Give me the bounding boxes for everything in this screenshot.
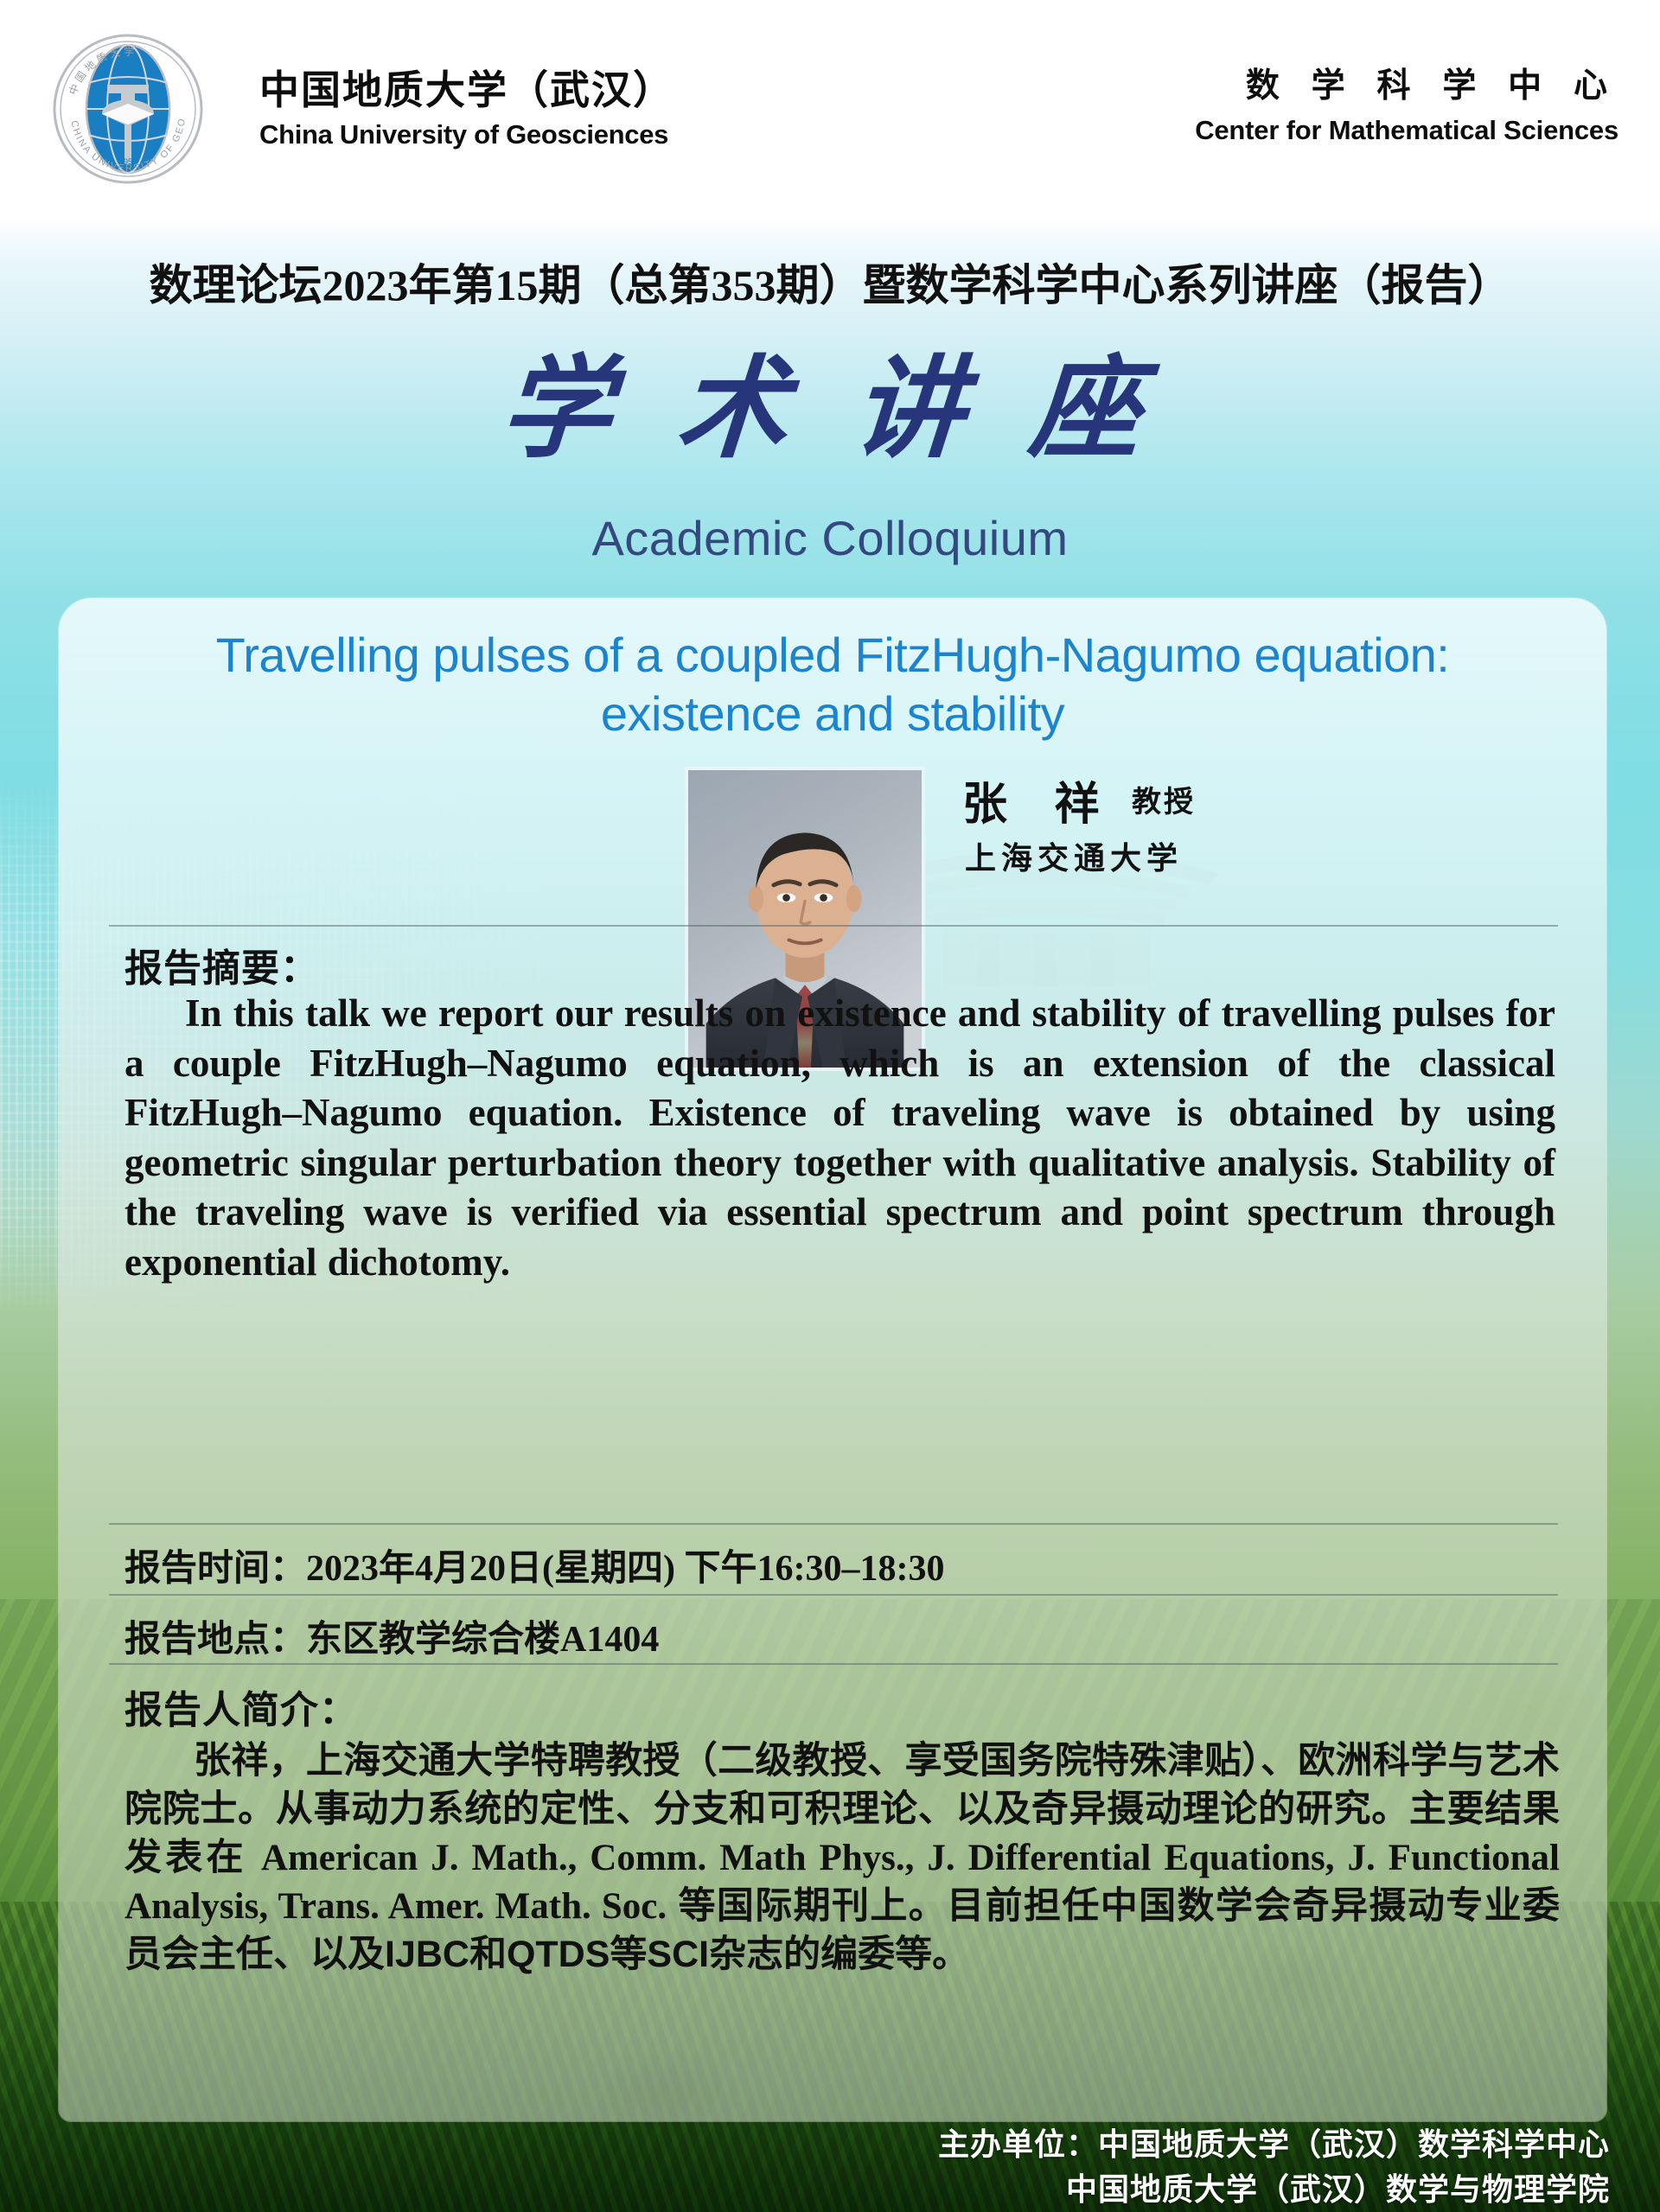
- page-title-cn: 学 术 讲 座: [0, 354, 1660, 465]
- divider-between-time-place: [109, 1594, 1558, 1596]
- event-place-label: 报告地点：: [124, 1618, 306, 1659]
- page-title-en: Academic Colloquium: [0, 510, 1660, 566]
- bio-text: 张祥，上海交通大学特聘教授（二级教授、享受国务院特殊津贴）、欧洲科学与艺术院院士…: [124, 1737, 1560, 1979]
- abstract-label: 报告摘要：: [124, 937, 319, 992]
- speaker-rank: 教授: [1132, 778, 1196, 820]
- organizer-line1: 主办单位：中国地质大学（武汉）数学科学中心: [572, 2122, 1610, 2167]
- divider-above-time: [109, 1523, 1558, 1525]
- university-name-block: 中国地质大学（武汉） China University of Geoscienc…: [259, 69, 674, 150]
- divider-above-abstract: [109, 925, 1558, 927]
- organizer-footer: 主办单位：中国地质大学（武汉）数学科学中心 中国地质大学（武汉）数学与物理学院: [572, 2122, 1610, 2212]
- center-name-en: Center for Mathematical Sciences: [1195, 115, 1618, 146]
- content-card: Travelling pulses of a coupled FitzHugh-…: [59, 598, 1606, 2121]
- forum-series-line: 数理论坛2023年第15期（总第353期）暨数学科学中心系列讲座（报告）: [0, 251, 1660, 313]
- university-name-cn: 中国地质大学（武汉）: [259, 69, 674, 111]
- event-time-value: 2023年4月20日(星期四) 下午16:30–18:30: [306, 1549, 944, 1589]
- bio-label: 报告人简介：: [124, 1679, 358, 1734]
- talk-title-line2: existence and stability: [111, 685, 1555, 743]
- university-name-en: China University of Geosciences: [259, 119, 674, 150]
- event-time-label: 报告时间：: [124, 1547, 306, 1588]
- center-name-cn: 数 学 科 学 中 心: [1195, 69, 1618, 105]
- poster-root: 1952 中 国 地 质 大 学 CHINA UNIVERSITY OF GEO…: [0, 0, 1660, 2212]
- event-place-value: 东区教学综合楼A1404: [306, 1620, 659, 1660]
- divider-above-bio: [109, 1663, 1558, 1665]
- header-bar: 1952 中 国 地 质 大 学 CHINA UNIVERSITY OF GEO…: [0, 0, 1660, 218]
- event-time-row: 报告时间：2023年4月20日(星期四) 下午16:30–18:30: [124, 1539, 944, 1591]
- abstract-text: In this talk we report our results on ex…: [124, 989, 1555, 1288]
- event-place-row: 报告地点：东区教学综合楼A1404: [124, 1610, 659, 1662]
- talk-title-line1: Travelling pulses of a coupled FitzHugh-…: [111, 626, 1555, 685]
- center-name-block: 数 学 科 学 中 心 Center for Mathematical Scie…: [1195, 69, 1618, 146]
- speaker-affiliation: 上海交通大学: [965, 833, 1183, 878]
- speaker-name: 张 祥: [962, 768, 1116, 832]
- organizer-line2: 中国地质大学（武汉）数学与物理学院: [572, 2167, 1610, 2212]
- university-seal-icon: 1952 中 国 地 质 大 学 CHINA UNIVERSITY OF GEO…: [52, 33, 204, 185]
- talk-title: Travelling pulses of a coupled FitzHugh-…: [111, 626, 1555, 744]
